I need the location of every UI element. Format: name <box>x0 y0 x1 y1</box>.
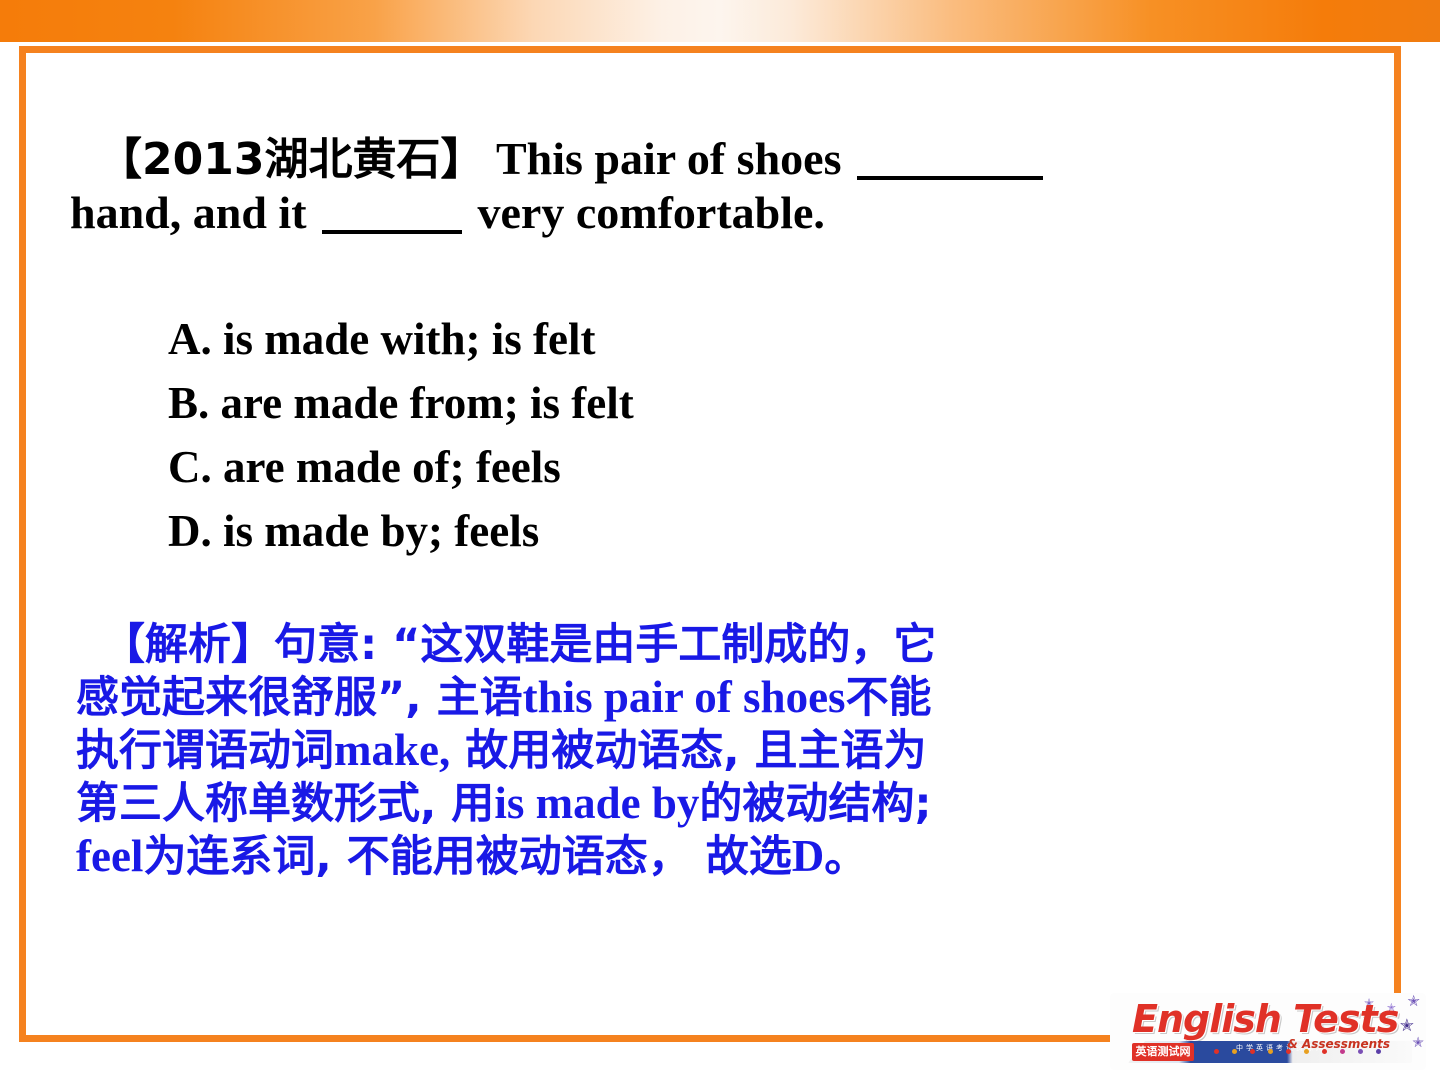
logo-wordmark: English Tests <box>1132 997 1398 1041</box>
star-icon: ✭ <box>1407 995 1420 1010</box>
analysis-line-1: 【解析】句意: “这双鞋是由手工制成的，它 <box>76 618 1376 671</box>
option-b-letter: B. <box>168 378 209 428</box>
slide-content: 【2013湖北黄石】 This pair of shoes hand, and … <box>0 0 1440 1080</box>
analysis-line-3-text-b: 故用被动语态, 且主语为 <box>450 726 926 776</box>
analysis-line-2-text-b: 不能 <box>846 673 932 723</box>
option-a[interactable]: A. is made with; is felt <box>168 308 634 372</box>
analysis-line-5-text-a: 为连系词, 不能用被动语态， 故选 <box>143 832 791 882</box>
option-c[interactable]: C. are made of; feels <box>168 436 634 500</box>
analysis-label: 【解析】 <box>102 620 274 670</box>
question-blank-2 <box>322 230 462 234</box>
question-line-1: 【2013湖北黄石】 This pair of shoes <box>70 132 1360 186</box>
star-icon: ✭ <box>1412 1037 1424 1051</box>
option-b-text: are made from; is felt <box>221 378 634 428</box>
logo-badge: 英语测试网 <box>1132 1043 1194 1061</box>
english-tests-logo: ✭ ✭ ✭ ✭ ✭ ✭ ✭ English Tests 中学英语考试资源网 英语… <box>1110 993 1426 1070</box>
question-line-2-prefix: hand, and it <box>70 187 307 238</box>
answer-options-list: A. is made with; is felt B. are made fro… <box>168 308 634 564</box>
analysis-line-3: 执行谓语动词make, 故用被动语态, 且主语为 <box>76 724 1376 777</box>
analysis-line-1-text: 句意: “这双鞋是由手工制成的，它 <box>274 620 936 670</box>
analysis-line-2-english: this pair of shoes <box>523 672 846 722</box>
analysis-line-5-english: feel <box>76 831 143 881</box>
analysis-block: 【解析】句意: “这双鞋是由手工制成的，它 感觉起来很舒服”, 主语this p… <box>76 618 1376 882</box>
question-line-2: hand, and it very comfortable. <box>70 186 1360 240</box>
analysis-answer-letter: D <box>792 831 825 881</box>
question-line-2-suffix: very comfortable. <box>478 187 825 238</box>
option-d[interactable]: D. is made by; feels <box>168 500 634 564</box>
option-c-letter: C. <box>168 442 212 492</box>
analysis-line-2: 感觉起来很舒服”, 主语this pair of shoes不能 <box>76 671 1376 724</box>
question-line-1-text: This pair of shoes <box>496 133 842 184</box>
question-source-tag: 【2013湖北黄石】 <box>98 134 484 185</box>
analysis-line-5-text-b: 。 <box>824 832 867 882</box>
option-c-text: are made of; feels <box>223 442 561 492</box>
option-d-text: is made by; feels <box>223 506 539 556</box>
analysis-line-4: 第三人称单数形式, 用is made by的被动结构; <box>76 777 1376 830</box>
analysis-line-5: feel为连系词, 不能用被动语态， 故选D。 <box>76 830 1376 883</box>
analysis-line-3-english: make, <box>334 725 450 775</box>
option-d-letter: D. <box>168 506 212 556</box>
option-b[interactable]: B. are made from; is felt <box>168 372 634 436</box>
star-icon: ✭ <box>1400 1017 1414 1034</box>
question-blank-1 <box>857 176 1043 180</box>
logo-tagline: & Assessments <box>1287 1037 1390 1051</box>
analysis-line-2-text-a: 感觉起来很舒服”, 主语 <box>76 673 523 723</box>
option-a-letter: A. <box>168 314 212 364</box>
analysis-line-3-text-a: 执行谓语动词 <box>76 726 334 776</box>
analysis-line-4-english: is made by <box>494 778 699 828</box>
analysis-line-4-text-a: 第三人称单数形式, 用 <box>76 779 494 829</box>
analysis-line-4-text-b: 的被动结构; <box>699 779 931 829</box>
option-a-text: is made with; is felt <box>223 314 595 364</box>
question-block: 【2013湖北黄石】 This pair of shoes hand, and … <box>70 132 1360 241</box>
